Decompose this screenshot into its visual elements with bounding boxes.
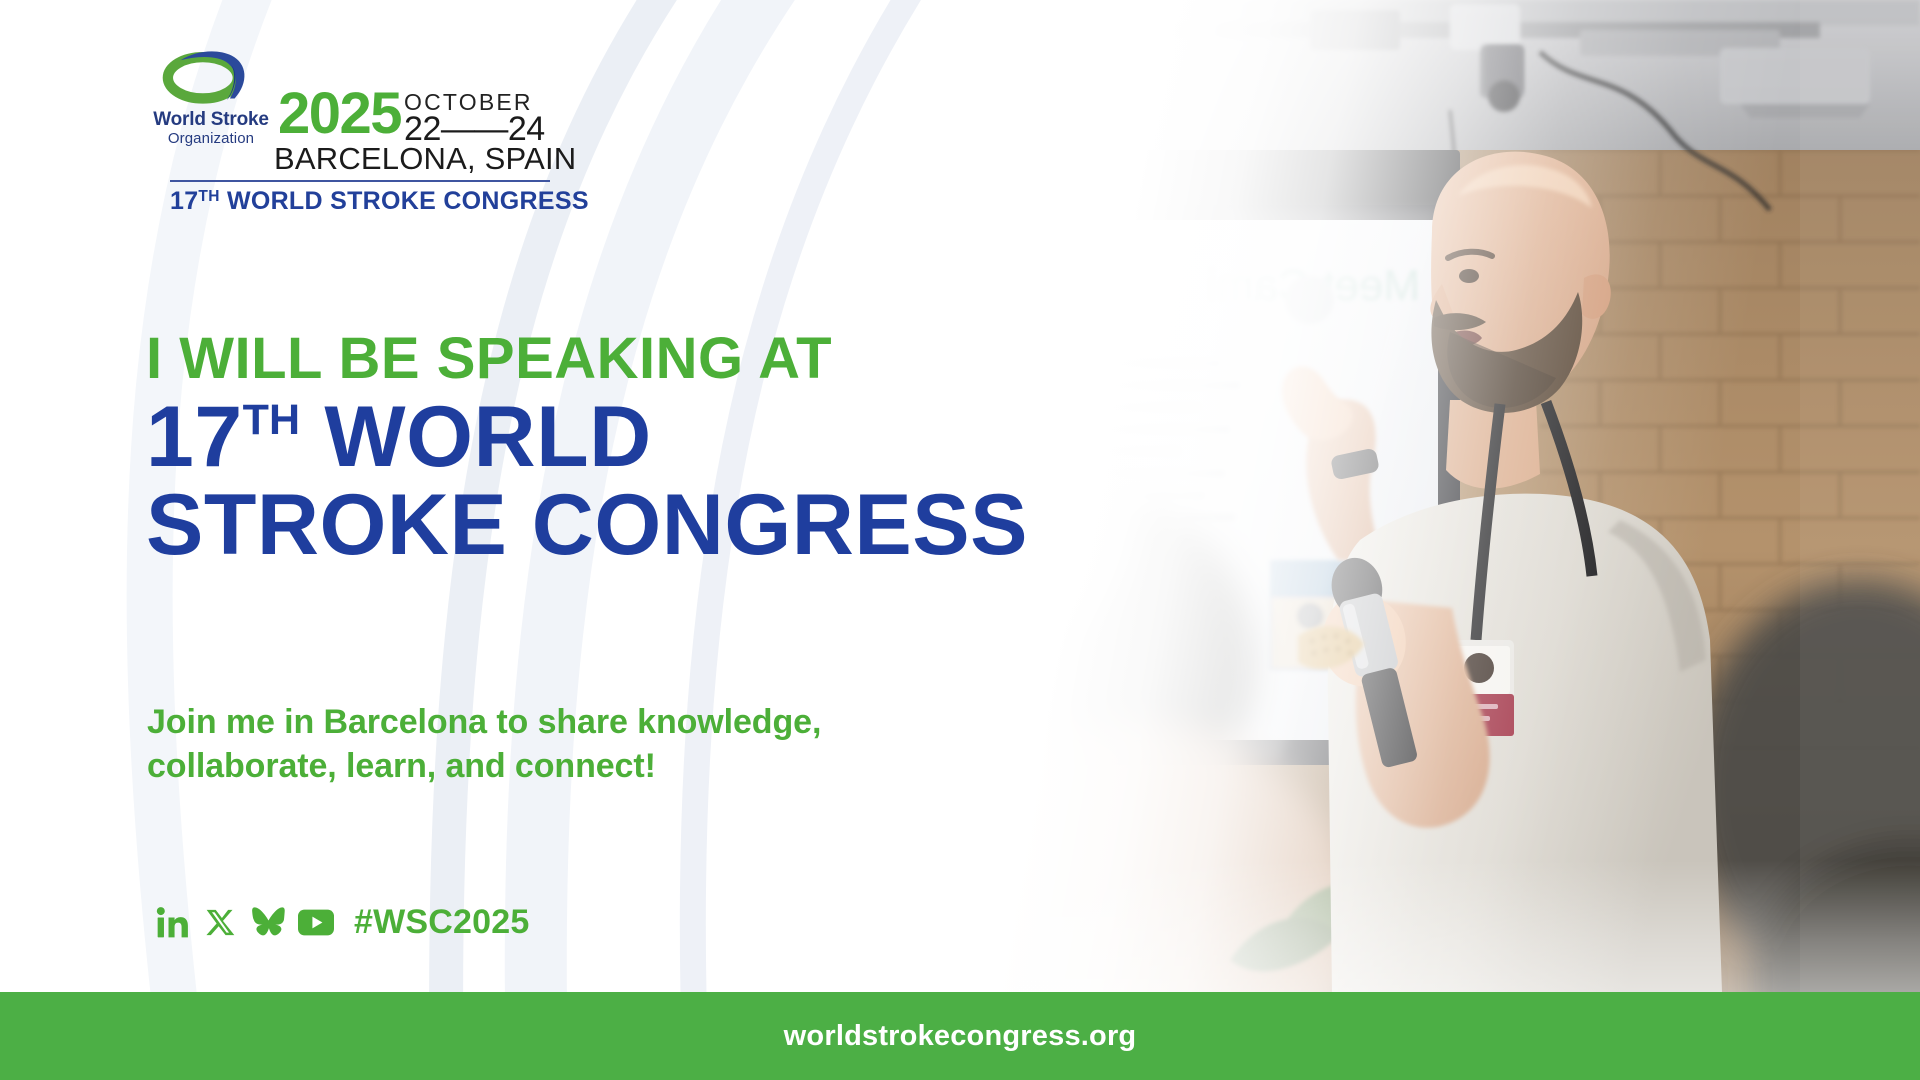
congress-ordinal-number: 17 bbox=[170, 187, 198, 215]
linkedin-icon[interactable] bbox=[148, 902, 196, 942]
subtitle-line-1: Join me in Barcelona to share knowledge, bbox=[147, 700, 1027, 744]
event-city: BARCELONA, SPAIN bbox=[152, 143, 552, 174]
bluesky-butterfly-icon[interactable] bbox=[244, 902, 292, 942]
speaker-photo: Meet Cami bbox=[980, 0, 1920, 992]
wso-logo: World Stroke Organization bbox=[152, 46, 270, 147]
headline-line-1: 17TH WORLD bbox=[146, 394, 1106, 482]
headline-line-2: STROKE CONGRESS bbox=[146, 482, 1106, 570]
wso-name-line2: Organization bbox=[152, 130, 270, 147]
headline-block: I WILL BE SPEAKING AT 17TH WORLD STROKE … bbox=[146, 330, 1106, 569]
event-hashtag: #WSC2025 bbox=[354, 903, 529, 942]
wso-name-line1: World Stroke bbox=[152, 110, 270, 130]
x-twitter-icon[interactable] bbox=[196, 902, 244, 942]
congress-ordinal-suffix: TH bbox=[198, 188, 219, 205]
wsc-logo-lockup: World Stroke Organization 2025 OCTOBER 2… bbox=[152, 46, 552, 216]
headline-ordinal-suffix: TH bbox=[243, 396, 300, 444]
subtitle-block: Join me in Barcelona to share knowledge,… bbox=[147, 700, 1027, 788]
footer-bar: worldstrokecongress.org bbox=[0, 992, 1920, 1080]
event-date-block: 2025 OCTOBER 22——24 bbox=[270, 91, 545, 147]
headline-line-1-word: WORLD bbox=[324, 389, 651, 485]
world-stroke-organization-emblem bbox=[158, 46, 262, 108]
congress-title-text: WORLD STROKE CONGRESS bbox=[227, 187, 589, 215]
social-links-row: #WSC2025 bbox=[148, 902, 529, 942]
speaker-announcement-banner: Meet Cami bbox=[0, 0, 1920, 1080]
logo-divider-rule bbox=[170, 180, 550, 182]
headline-ordinal-number: 17 bbox=[146, 389, 243, 485]
event-year: 2025 bbox=[278, 91, 401, 137]
youtube-icon[interactable] bbox=[292, 902, 340, 942]
headline-kicker: I WILL BE SPEAKING AT bbox=[146, 330, 1106, 388]
subtitle-line-2: collaborate, learn, and connect! bbox=[147, 744, 1027, 788]
footer-website-url[interactable]: worldstrokecongress.org bbox=[784, 1020, 1137, 1053]
congress-title: 17TH WORLD STROKE CONGRESS bbox=[152, 187, 552, 216]
